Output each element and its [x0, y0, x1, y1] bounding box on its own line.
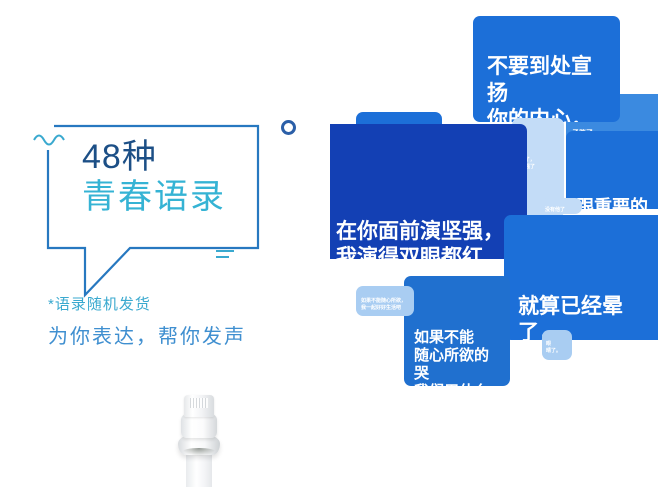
left-panel: 48种 青春语录 *语录随机发货 为你表达，帮你发声	[0, 0, 330, 487]
bubble-jianqiang: 在你面前演坚强， 我演得双眼都红了。	[330, 124, 527, 259]
equals-bar-2	[216, 256, 229, 258]
page-title: 48种 青春语录	[82, 140, 282, 214]
circle-outline-icon	[281, 120, 296, 135]
equals-bar-1	[216, 250, 234, 252]
white-bottle-icon	[178, 395, 220, 487]
bubble-text: 不要到处宣扬 你的内心， 因为不止你一人 有故事。	[487, 55, 592, 122]
bubble-xiaozuo2: 眼 晴了。	[542, 330, 572, 360]
tagline: 为你表达，帮你发声	[48, 320, 246, 349]
bubble-yunle: 就算已经晕了， 眼里总有一个人 是清晰的。	[504, 215, 658, 340]
headline-line-1: 48种	[82, 140, 282, 174]
bubble-text: 就算已经晕了， 眼里总有一个人 是清晰的。	[518, 295, 644, 340]
equals-mark-icon	[216, 250, 234, 262]
bottle-shadow	[182, 448, 216, 456]
bottle-neck	[181, 414, 217, 438]
sub-note: *语录随机发货	[48, 293, 151, 314]
bottle-body	[186, 453, 212, 487]
bubble-text: 在你面前演坚强， 我演得双眼都红了。	[336, 220, 504, 259]
bubble-text: 如果不能 随心所欲的哭 我们用什么方式 证明年轻?	[414, 329, 489, 386]
speech-bubble-collage: 子胖了， 遇却瘦了 子胖了， 遇却瘦了 约了有多久？ 我在等你主动， 你在等我有…	[330, 0, 658, 487]
bubble-text: 没有他了	[545, 207, 565, 213]
bubble-ruguo: 如果不能 随心所欲的哭 我们用什么方式 证明年轻?	[404, 276, 510, 386]
headline-line-2: 青春语录	[82, 180, 282, 214]
bubble-xuanyang: 不要到处宣扬 你的内心， 因为不止你一人 有故事。	[473, 16, 620, 122]
bubble-xiaozuo1: 如果不能随心所欲， 我一起好好生活吧	[356, 286, 414, 316]
bubble-zhongyao: 跟重要的人 才会谈人生	[566, 131, 658, 209]
bottle-cap-ribs	[190, 398, 208, 408]
poster-canvas: 48种 青春语录 *语录随机发货 为你表达，帮你发声 子胖了， 遇却瘦了 子胖了…	[0, 0, 658, 487]
bubble-text: 如果不能随心所欲， 我一起好好生活吧	[361, 298, 406, 311]
bubble-xiaozuo3: 没有他了	[542, 198, 582, 214]
bubble-text: 跟重要的人 才会谈人生	[576, 197, 648, 209]
bubble-text: 眼 晴了。	[546, 341, 561, 354]
